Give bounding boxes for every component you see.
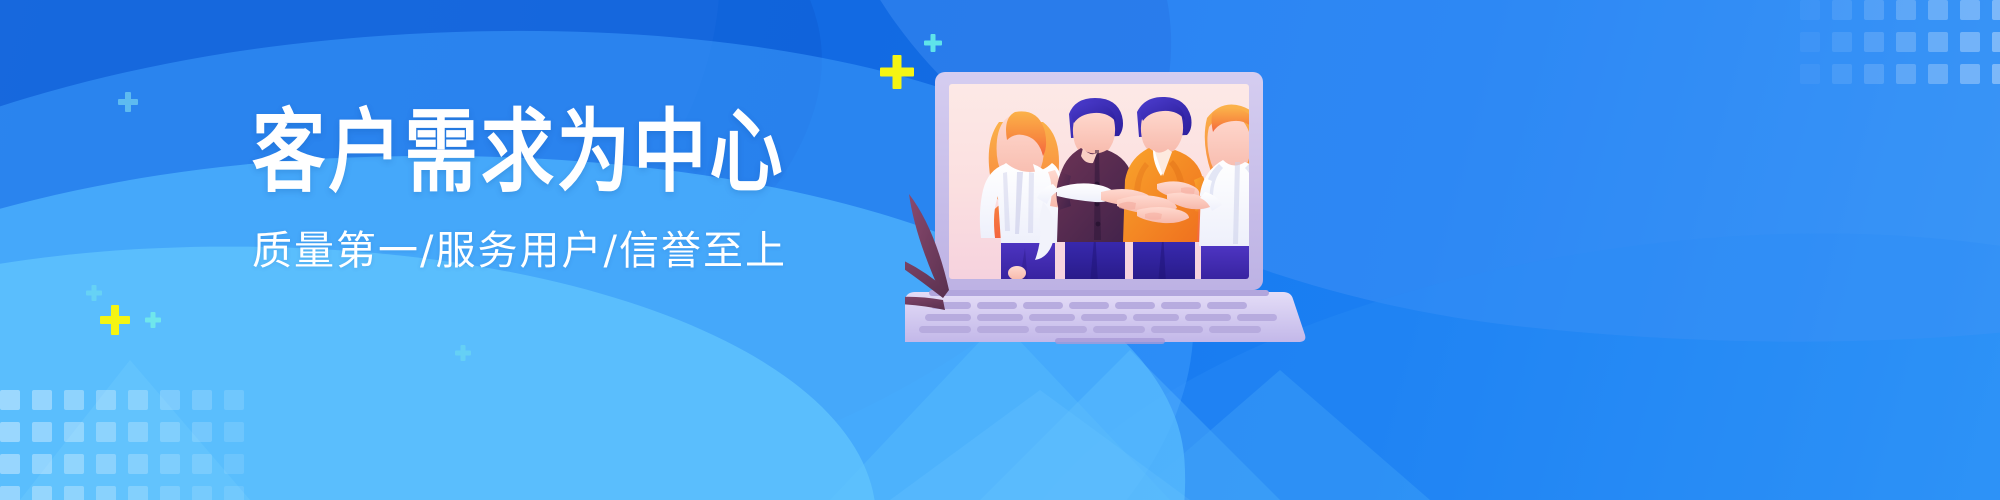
plus-cyan-bottom-left-icon [145,312,161,328]
laptop-trackpad [1055,338,1165,344]
laptop-team-illustration [905,52,1325,352]
plus-cyan-far-left-icon [455,345,471,361]
plus-yellow-bottom-left-icon [100,305,130,335]
grid-pattern-bottom-left [0,390,256,500]
background-facet-left [20,300,340,500]
plus-cyan-small-top-icon [924,34,942,52]
banner-subtitle: 质量第一/服务用户/信誉至上 [252,226,812,276]
banner-headline: 客户需求为中心 [252,100,806,205]
grid-pattern-top-right [1800,0,2000,96]
banner-text-block: 客户需求为中心 质量第一/服务用户/信誉至上 [252,100,812,276]
laptop-hinge [929,290,1269,296]
plus-cyan-left-upper-icon [118,92,138,112]
marketing-banner: 客户需求为中心 质量第一/服务用户/信誉至上 [0,0,2000,500]
plus-cyan-small-mid-icon [86,285,102,301]
